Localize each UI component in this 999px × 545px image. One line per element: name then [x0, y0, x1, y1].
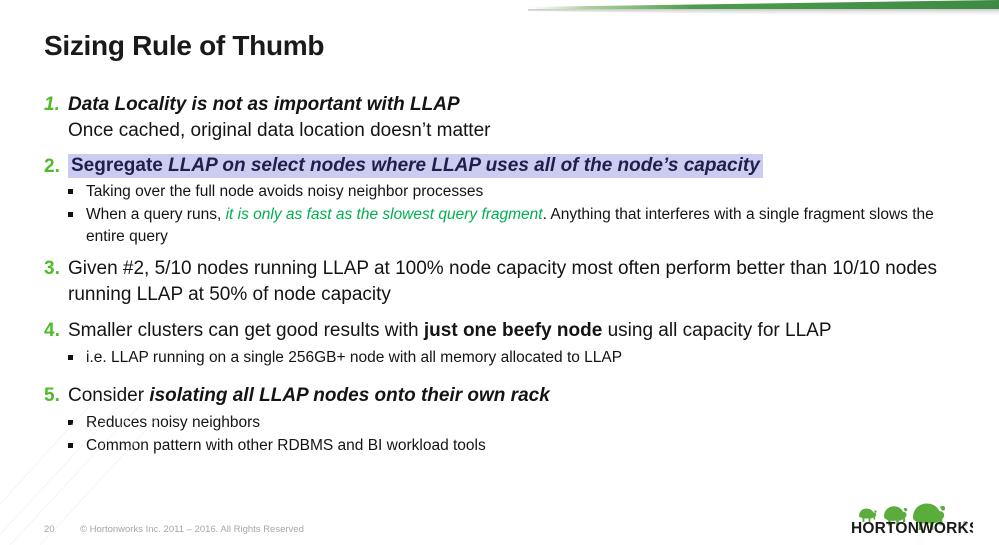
list-item-3-text: Given #2, 5/10 nodes running LLAP at 100…	[68, 256, 954, 308]
list-item-1: 1. Data Locality is not as important wit…	[44, 92, 954, 144]
highlight-rest-text: LLAP on select nodes where LLAP uses all…	[168, 155, 760, 176]
square-bullet-icon	[68, 435, 86, 448]
square-bullet-icon	[68, 181, 86, 194]
slide: Sizing Rule of Thumb 1. Data Locality is…	[0, 0, 999, 545]
sub-bullet-text: Taking over the full node avoids noisy n…	[86, 181, 954, 203]
list-item-2-sublist: Taking over the full node avoids noisy n…	[68, 181, 954, 248]
top-accent-banner	[0, 0, 999, 24]
list-number-2: 2.	[44, 154, 68, 180]
list-item-1-heading: Data Locality is not as important with L…	[68, 92, 954, 118]
sub-bullet: When a query runs, it is only as fast as…	[68, 204, 954, 248]
page-title: Sizing Rule of Thumb	[44, 30, 324, 62]
list-item-5-sublist: Reduces noisy neighbors Common pattern w…	[68, 412, 954, 457]
list-item-1-subline: Once cached, original data location does…	[68, 118, 954, 144]
list-item-4-pre: Smaller clusters can get good results wi…	[68, 320, 424, 341]
list-item-4-emphasis: just one beefy node	[424, 320, 602, 341]
sub-bullet-text: Common pattern with other RDBMS and BI w…	[86, 435, 954, 457]
list-item-4-sublist: i.e. LLAP running on a single 256GB+ nod…	[68, 347, 954, 369]
square-bullet-icon	[68, 347, 86, 360]
list-item-5: 5. Consider isolating all LLAP nodes ont…	[44, 383, 954, 461]
list-item-5-emphasis: isolating all LLAP nodes onto their own …	[149, 385, 549, 406]
list-item-5-text: Consider isolating all LLAP nodes onto t…	[68, 383, 954, 409]
sub-bullet-text-pre: When a query runs,	[86, 206, 226, 223]
sub-bullet: i.e. LLAP running on a single 256GB+ nod…	[68, 347, 954, 369]
list-item-5-pre: Consider	[68, 385, 149, 406]
list-number-3: 3.	[44, 256, 68, 282]
list-item-3: 3. Given #2, 5/10 nodes running LLAP at …	[44, 256, 954, 308]
square-bullet-icon	[68, 412, 86, 425]
copyright-text: © Hortonworks Inc. 2011 – 2016. All Righ…	[80, 524, 304, 535]
square-bullet-icon	[68, 204, 86, 217]
logo-wordmark: HORTONWORKS	[851, 520, 973, 536]
list-item-2-highlight: Segregate LLAP on select nodes where LLA…	[68, 154, 954, 178]
list-item-4: 4. Smaller clusters can get good results…	[44, 318, 954, 373]
list-item-4-post: using all capacity for LLAP	[602, 320, 831, 341]
list-item-2: 2. Segregate LLAP on select nodes where …	[44, 154, 954, 252]
sub-bullet-text: i.e. LLAP running on a single 256GB+ nod…	[86, 347, 954, 369]
highlight-lead-text: Segregate	[71, 155, 163, 176]
content-list: 1. Data Locality is not as important wit…	[44, 92, 954, 463]
logo-trademark: ®	[963, 521, 968, 528]
list-number-1: 1.	[44, 92, 68, 118]
sub-bullet: Common pattern with other RDBMS and BI w…	[68, 435, 954, 457]
sub-bullet-text-emphasis: it is only as fast as the slowest query …	[226, 206, 543, 223]
list-number-4: 4.	[44, 318, 68, 344]
sub-bullet: Reduces noisy neighbors	[68, 412, 954, 434]
hortonworks-logo: HORTONWORKS ®	[851, 494, 973, 536]
sub-bullet-text: When a query runs, it is only as fast as…	[86, 204, 954, 248]
sub-bullet: Taking over the full node avoids noisy n…	[68, 181, 954, 203]
list-number-5: 5.	[44, 383, 68, 409]
sub-bullet-text: Reduces noisy neighbors	[86, 412, 954, 434]
page-number: 20	[44, 524, 55, 535]
list-item-4-text: Smaller clusters can get good results wi…	[68, 318, 954, 344]
